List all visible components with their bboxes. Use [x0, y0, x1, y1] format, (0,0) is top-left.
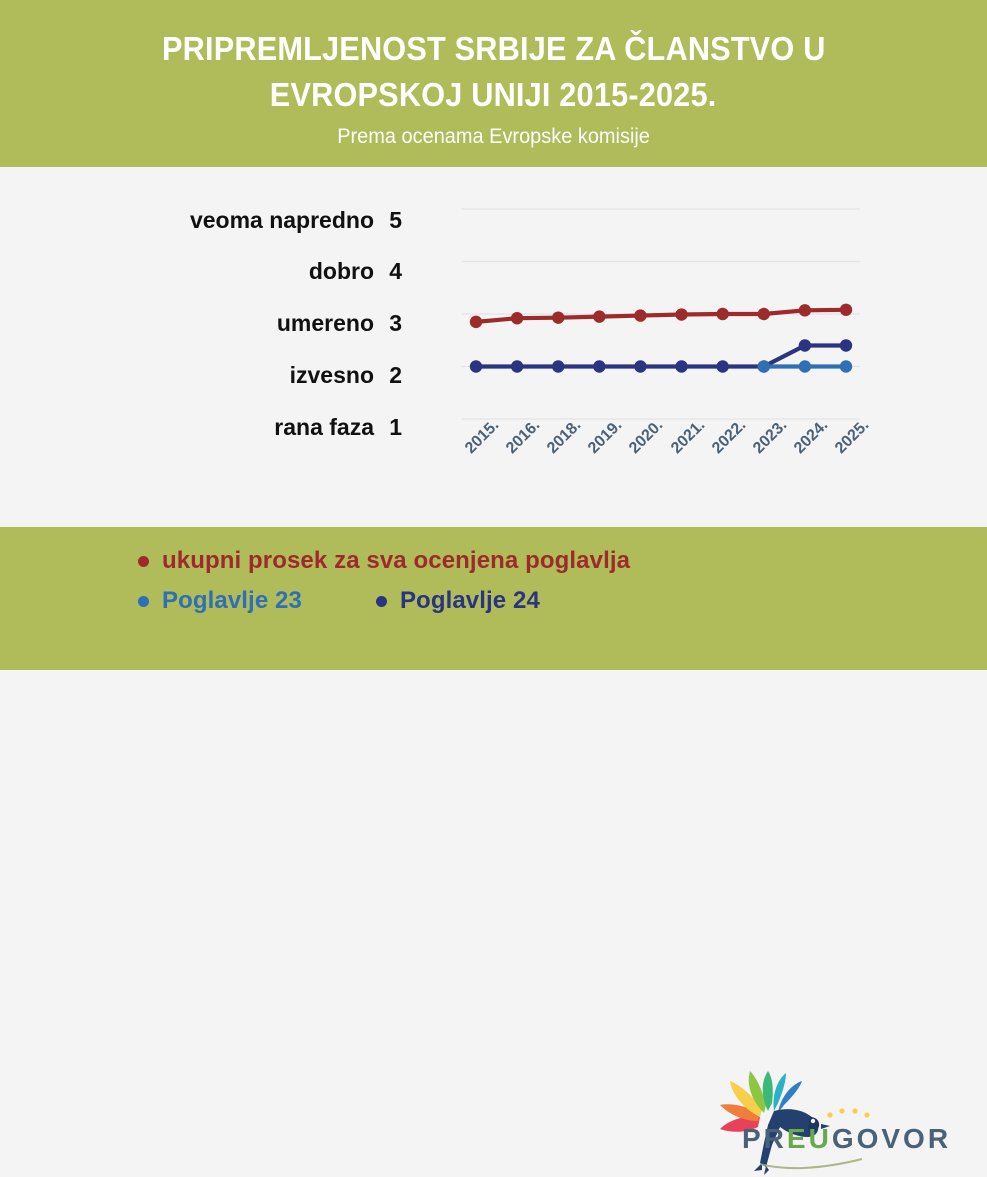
scale-label-4: dobro — [309, 258, 374, 285]
scale-value-4: 4 — [374, 258, 420, 285]
logo-wordmark: PREUGOVOR — [742, 1123, 951, 1155]
data-point[interactable] — [716, 308, 728, 320]
data-point[interactable] — [758, 360, 770, 372]
data-point[interactable] — [840, 360, 852, 372]
x-tick-2024: 2024. — [791, 417, 832, 458]
data-point[interactable] — [593, 310, 605, 322]
legend-row-2: Poglavlje 23 Poglavlje 24 — [138, 587, 718, 615]
scale-label-1: rana faza — [274, 414, 374, 441]
data-point[interactable] — [634, 309, 646, 321]
data-point[interactable] — [675, 308, 687, 320]
legend-label-chapter-24: Poglavlje 24 — [400, 587, 540, 615]
data-point[interactable] — [758, 308, 770, 320]
scale-value-5: 5 — [374, 207, 420, 234]
scale-label-2: izvesno — [290, 362, 374, 389]
data-point[interactable] — [675, 360, 687, 372]
legend-dot-chapter-23 — [138, 596, 149, 607]
data-point[interactable] — [799, 360, 811, 372]
scale-label-5: veoma napredno — [190, 207, 374, 234]
footer-banner: ukupni prosek za sva ocenjena poglavlja … — [0, 527, 987, 670]
x-tick-2016: 2016. — [503, 417, 544, 458]
x-tick-2019: 2019. — [585, 417, 626, 458]
x-tick-2020: 2020. — [626, 417, 667, 458]
page-title-line-1: PRIPREMLJENOST SRBIJE ZA ČLANSTVO U — [162, 26, 826, 72]
logo-word-part-1: PR — [742, 1123, 787, 1154]
scale-legend: veoma napredno 5 dobro 4 umereno 3 izves… — [0, 167, 420, 467]
data-point[interactable] — [470, 316, 482, 328]
preugovor-bird-icon — [712, 1067, 902, 1177]
data-point[interactable] — [799, 304, 811, 316]
legend-label-average: ukupni prosek za sva ocenjena poglavlja — [162, 547, 630, 575]
data-point[interactable] — [799, 339, 811, 351]
line-chart-plot — [462, 209, 860, 419]
legend-row-1: ukupni prosek za sva ocenjena poglavlja — [138, 547, 718, 575]
x-tick-2023: 2023. — [750, 417, 791, 458]
series-line-0 — [476, 310, 846, 322]
x-tick-2018: 2018. — [544, 417, 585, 458]
data-point[interactable] — [511, 360, 523, 372]
data-point[interactable] — [593, 360, 605, 372]
scale-label-3: umereno — [277, 310, 374, 337]
legend-dot-chapter-24 — [376, 596, 387, 607]
legend-dot-average — [138, 556, 149, 567]
scale-row-1: rana faza 1 — [0, 412, 420, 442]
data-point[interactable] — [634, 360, 646, 372]
legend-label-chapter-23: Poglavlje 23 — [162, 587, 302, 615]
scale-value-3: 3 — [374, 310, 420, 337]
chart-legend: ukupni prosek za sva ocenjena poglavlja … — [138, 547, 718, 615]
scale-value-2: 2 — [374, 362, 420, 389]
data-point[interactable] — [840, 304, 852, 316]
legend-item-chapter-23[interactable]: Poglavlje 23 — [138, 587, 302, 615]
data-point[interactable] — [511, 312, 523, 324]
scale-row-3: umereno 3 — [0, 308, 420, 338]
scale-value-1: 1 — [374, 414, 420, 441]
logo-word-part-2: EU — [787, 1123, 832, 1154]
scale-row-5: veoma napredno 5 — [0, 205, 420, 235]
infographic-root: PRIPREMLJENOST SRBIJE ZA ČLANSTVO U EVRO… — [0, 0, 987, 670]
data-point[interactable] — [840, 339, 852, 351]
legend-item-chapter-24[interactable]: Poglavlje 24 — [376, 587, 540, 615]
chart-x-axis-labels: 2015.2016.2018.2019.2020.2021.2022.2023.… — [440, 439, 870, 519]
chart-svg — [462, 209, 860, 419]
logo-word-part-3: GOVOR — [832, 1123, 951, 1154]
scale-row-4: dobro 4 — [0, 256, 420, 286]
header-banner: PRIPREMLJENOST SRBIJE ZA ČLANSTVO U EVRO… — [0, 0, 987, 167]
data-point[interactable] — [716, 360, 728, 372]
x-tick-2015: 2015. — [462, 417, 503, 458]
page-subtitle: Prema ocenama Evropske komisije — [337, 122, 650, 152]
legend-item-average[interactable]: ukupni prosek za sva ocenjena poglavlja — [138, 547, 630, 575]
x-tick-2022: 2022. — [709, 417, 750, 458]
data-point[interactable] — [552, 360, 564, 372]
data-point[interactable] — [470, 360, 482, 372]
page-title-line-2: EVROPSKOJ UNIJI 2015-2025. — [270, 72, 717, 118]
x-tick-2025: 2025. — [832, 417, 873, 458]
series-line-1 — [476, 346, 846, 367]
data-point[interactable] — [552, 311, 564, 323]
preugovor-logo[interactable]: PREUGOVOR — [712, 1067, 902, 1177]
scale-row-2: izvesno 2 — [0, 360, 420, 390]
x-tick-2021: 2021. — [668, 417, 709, 458]
chart-section: veoma napredno 5 dobro 4 umereno 3 izves… — [0, 167, 987, 527]
